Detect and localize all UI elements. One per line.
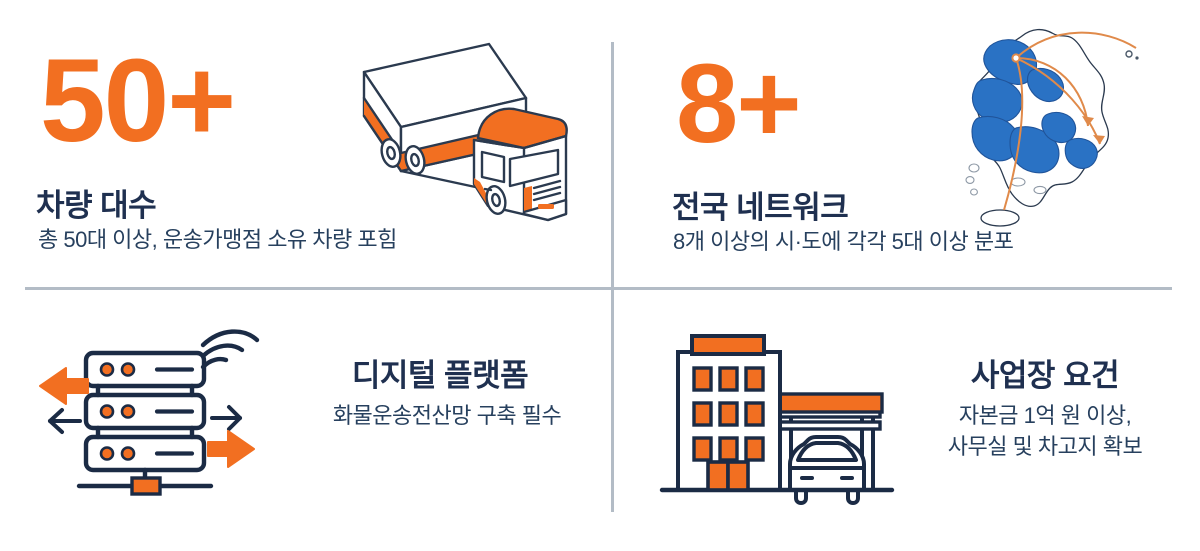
text-block-business-site: 사업장 요건 자본금 1억 원 이상, 사무실 및 차고지 확보 — [900, 358, 1190, 462]
server-network-icon — [22, 308, 272, 510]
title-business-site: 사업장 요건 — [900, 358, 1190, 394]
title-nationwide-network: 전국 네트워크 — [672, 182, 848, 227]
stat-number-network: 8+ — [676, 48, 800, 160]
subtitle-business-site-line1: 자본금 1억 원 이상, — [900, 401, 1190, 431]
subtitle-digital-platform: 화물운송전산망 구축 필수 — [294, 401, 600, 431]
infographic-root: 50+ 차량 대수 총 50대 이상, 운송가맹점 소유 차량 포힘 — [0, 0, 1200, 551]
subtitle-business-site-line2: 사무실 및 차고지 확보 — [900, 432, 1190, 462]
title-digital-platform: 디지털 플랫폼 — [280, 358, 600, 394]
horizontal-divider — [25, 287, 1172, 290]
korea-map-network-icon — [944, 22, 1140, 237]
subtitle-vehicle-count: 총 50대 이상, 운송가맹점 소유 차량 포힘 — [38, 222, 397, 254]
title-vehicle-count: 차량 대수 — [36, 180, 156, 225]
stat-number-vehicle-count: 50+ — [40, 42, 234, 160]
delivery-truck-icon — [352, 28, 602, 228]
office-building-garage-icon — [652, 322, 902, 512]
text-block-digital-platform: 디지털 플랫폼 화물운송전산망 구축 필수 — [280, 358, 600, 430]
quadrant-vehicle-count: 50+ 차량 대수 총 50대 이상, 운송가맹점 소유 차량 포힘 — [0, 0, 611, 287]
